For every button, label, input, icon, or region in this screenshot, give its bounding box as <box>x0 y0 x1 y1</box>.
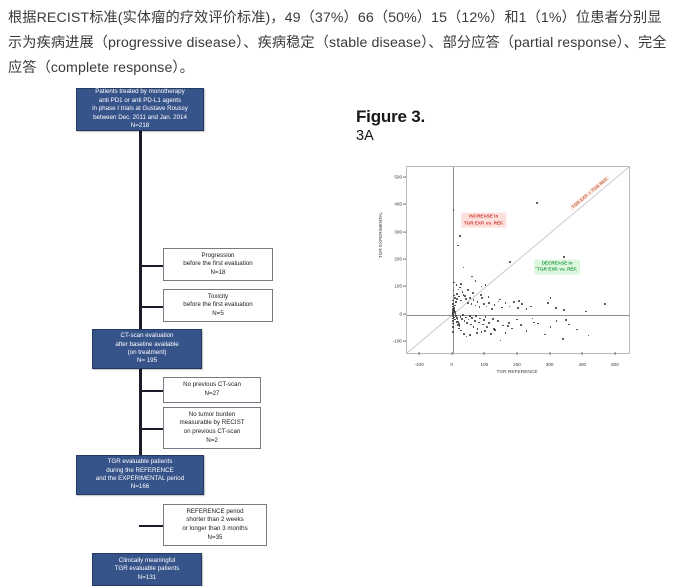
y-axis-tick-mark <box>403 177 406 178</box>
scatter-point <box>544 334 546 336</box>
scatter-point <box>555 307 557 309</box>
flow-node-cohort: Patients treated by monotherapyanti PD1 … <box>76 88 204 131</box>
scatter-point <box>465 298 467 300</box>
x-axis-tick-label: 300 <box>546 362 554 367</box>
flow-node-ctscan: CT-scan evaluationafter baseline availab… <box>92 329 202 369</box>
scatter-point <box>509 261 511 263</box>
scatter-point <box>490 333 492 335</box>
flow-node-line: Toxicity <box>208 293 228 302</box>
scatter-chart-panel: Figure 3. 3A TGR EXPERIMENTAL TGR REFERE… <box>336 85 675 518</box>
scatter-point <box>480 294 482 296</box>
scatter-point <box>604 303 606 305</box>
y-axis-tick-label: 300 <box>394 229 402 234</box>
scatter-point <box>454 305 456 307</box>
flow-node-clinically-meaningful: Clinically meaningfulTGR evaluable patie… <box>92 553 202 586</box>
y-axis-tick-label: 100 <box>394 284 402 289</box>
scatter-point <box>518 300 520 302</box>
scatter-point <box>452 320 454 322</box>
flow-node-no-previous-ct: No previous CT-scanN=27 <box>163 377 261 403</box>
x-axis-tick-mark <box>582 352 583 355</box>
flow-node-line: N=131 <box>138 574 156 582</box>
flow-stub-no-previous-ct <box>139 390 165 392</box>
flow-node-line: Patients treated by monotherapy <box>95 88 184 96</box>
flow-node-line: No tumor burden <box>189 411 235 420</box>
y-axis-tick-label: 0 <box>399 311 402 316</box>
flow-connector-spine <box>139 127 142 475</box>
scatter-point <box>478 322 480 324</box>
flow-node-line: after baseline available <box>115 341 178 349</box>
scatter-point <box>476 332 478 334</box>
scatter-point <box>508 322 510 324</box>
scatter-point <box>469 315 471 317</box>
figure-title: Figure 3. <box>356 107 425 127</box>
flow-node-line: N= 195 <box>137 357 157 365</box>
flow-node-line: No previous CT-scan <box>183 381 241 390</box>
scatter-point <box>465 317 467 319</box>
scatter-point <box>562 338 564 340</box>
scatter-point <box>491 308 493 310</box>
x-axis-tick-mark <box>517 352 518 355</box>
scatter-point <box>485 316 487 318</box>
scatter-point <box>455 301 457 303</box>
flow-node-line: REFERENCE period <box>186 508 243 517</box>
x-axis-tick-mark <box>419 352 420 355</box>
x-axis-tick-label: 0 <box>450 362 453 367</box>
scatter-point <box>474 320 476 322</box>
scatter-point <box>469 297 471 299</box>
flow-node-line: N=5 <box>212 310 224 319</box>
y-axis-tick-mark <box>403 341 406 342</box>
flow-node-line: between Dec. 2011 and Jan. 2014 <box>93 114 187 122</box>
flow-stub-toxicity <box>139 306 165 308</box>
x-axis-title: TGR REFERENCE <box>496 370 537 375</box>
scatter-point <box>452 326 454 328</box>
scatter-point <box>483 319 485 321</box>
flow-node-line: N=35 <box>208 534 223 543</box>
flow-node-line: Clinically meaningful <box>119 557 175 565</box>
scatter-point <box>452 331 454 333</box>
scatter-point <box>488 322 490 324</box>
flow-node-line: N=2 <box>206 437 218 446</box>
flow-node-line: during the REFERENCE <box>106 467 173 475</box>
decrease-annotation: DECREASE inTGR EXP. vs. REF. <box>534 259 580 274</box>
annotation-line: TGR EXP. vs. REF. <box>464 220 504 226</box>
flow-node-line: (on treatment) <box>128 349 167 357</box>
flow-node-line: measurable by RECIST <box>180 419 245 428</box>
scatter-point <box>563 256 565 258</box>
y-axis-tick-mark <box>403 313 406 314</box>
scatter-point <box>472 292 474 294</box>
y-axis-tick-label: 400 <box>394 202 402 207</box>
flow-node-line: N=27 <box>205 390 220 399</box>
scatter-point <box>459 235 461 237</box>
scatter-point <box>457 324 459 326</box>
flow-node-tgr-evaluable: TGR evaluable patientsduring the REFEREN… <box>76 455 204 495</box>
y-axis-tick-mark <box>403 259 406 260</box>
plot-box: INCREASE inTGR EXP. vs. REF.DECREASE inT… <box>406 166 630 354</box>
flow-node-line: on previous CT-scan <box>184 428 241 437</box>
y-axis-tick-mark <box>403 286 406 287</box>
scatter-point <box>467 302 469 304</box>
scatter-point <box>492 318 494 320</box>
page-caption: 根据RECIST标准(实体瘤的疗效评价标准)，49（37%）66（50%）15（… <box>8 6 668 81</box>
flow-node-line: TGR evaluable patients <box>108 458 173 466</box>
scatter-point <box>488 302 490 304</box>
scatter-point <box>484 330 486 332</box>
scatter-point <box>460 283 462 285</box>
scatter-point <box>497 320 499 322</box>
y-axis-tick-mark <box>403 231 406 232</box>
flow-node-line: before the first evaluation <box>183 260 252 269</box>
scatter-point <box>493 328 495 330</box>
plot-area-wrapper: TGR EXPERIMENTAL TGR REFERENCE INCREASE … <box>376 158 661 458</box>
x-axis-tick-label: 100 <box>481 362 489 367</box>
y-axis-title: TGR EXPERIMENTAL <box>378 212 383 258</box>
scatter-point <box>471 317 473 319</box>
flow-node-line: Progression <box>201 252 234 261</box>
x-axis-tick-label: 500 <box>611 362 619 367</box>
scatter-point <box>461 318 463 320</box>
x-axis-tick-mark <box>615 352 616 355</box>
scatter-point <box>513 301 515 303</box>
x-axis-tick-mark <box>549 352 550 355</box>
flow-stub-progression <box>139 265 165 267</box>
y-zero-line <box>407 315 629 316</box>
flow-node-line: N=218 <box>131 122 149 130</box>
flow-node-reference-period: REFERENCE periodshorter than 2 weeksor l… <box>163 504 267 546</box>
flow-node-progression: Progressionbefore the first evaluationN=… <box>163 248 273 281</box>
y-axis-tick-mark <box>403 204 406 205</box>
annotation-line: TGR EXP. vs. REF. <box>537 267 577 273</box>
flow-node-line: before the first evaluation <box>183 301 252 310</box>
x-axis-tick-mark <box>484 352 485 355</box>
flow-node-line: or longer than 3 months <box>182 525 247 534</box>
flow-node-line: and the EXPERIMENTAL period <box>96 475 184 483</box>
flow-node-line: N=18 <box>211 269 226 278</box>
flow-stub-no-tumor-burden <box>139 428 165 430</box>
flow-node-line: anti PD1 or anti PD-L1 agents <box>99 97 181 105</box>
y-axis-tick-label: 500 <box>394 174 402 179</box>
y-axis-tick-label: 200 <box>394 257 402 262</box>
increase-annotation: INCREASE inTGR EXP. vs. REF. <box>461 213 507 228</box>
flow-node-no-tumor-burden: No tumor burdenmeasurable by RECISTon pr… <box>163 407 261 449</box>
scatter-point <box>585 311 587 313</box>
scatter-point <box>467 289 469 291</box>
scatter-point <box>481 331 483 333</box>
scatter-point <box>466 322 468 324</box>
scatter-point <box>475 315 477 317</box>
scatter-point <box>456 293 458 295</box>
flow-stub-reference-period <box>139 525 165 527</box>
scatter-point <box>547 302 549 304</box>
x-axis-tick-label: 200 <box>513 362 521 367</box>
scatter-point <box>536 202 538 204</box>
x-axis-tick-label: -100 <box>414 362 423 367</box>
figure-panel: Patients treated by monotherapyanti PD1 … <box>0 85 675 518</box>
x-axis-tick-mark <box>451 352 452 355</box>
flow-node-line: CT-scan evaluation <box>121 332 174 340</box>
scatter-point <box>517 307 519 309</box>
flow-node-toxicity: Toxicitybefore the first evaluationN=5 <box>163 289 273 322</box>
flow-node-line: TGR evaluable patients <box>115 565 180 573</box>
figure-subtitle: 3A <box>356 128 374 144</box>
scatter-point <box>563 309 565 311</box>
scatter-point <box>521 303 523 305</box>
scatter-point <box>499 299 501 301</box>
scatter-point <box>485 284 487 286</box>
scatter-point <box>511 328 513 330</box>
scatter-point <box>533 322 535 324</box>
scatter-point <box>469 334 471 336</box>
scatter-point <box>453 310 455 312</box>
flow-node-line: N=166 <box>131 483 149 491</box>
x-axis-tick-label: 400 <box>578 362 586 367</box>
reference-line <box>407 167 629 353</box>
scatter-point <box>463 333 465 335</box>
scatter-point <box>464 295 466 297</box>
y-axis-tick-label: -100 <box>393 339 402 344</box>
scatter-point <box>453 209 455 211</box>
patient-flow-diagram: Patients treated by monotherapyanti PD1 … <box>0 85 336 518</box>
flow-node-line: in phase I trials at Gustave Roussy <box>92 105 188 113</box>
